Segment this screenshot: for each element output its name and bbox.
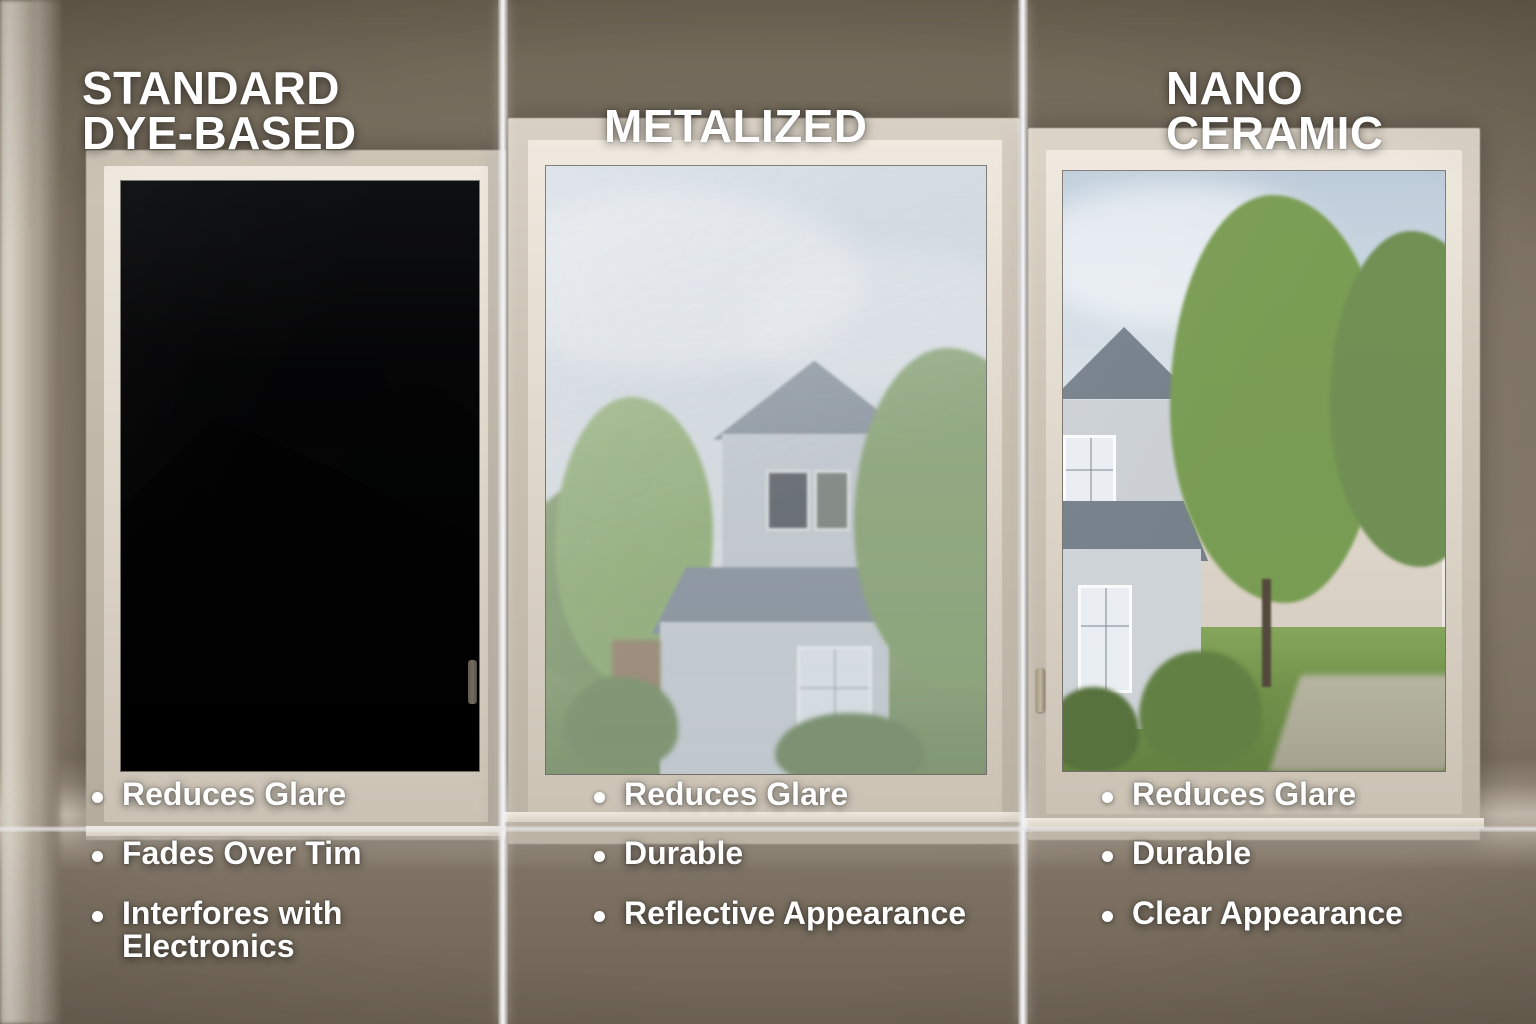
column-divider-1: [498, 0, 508, 1024]
list-item: Interfores with Electronics: [88, 897, 488, 964]
column-title-nano-ceramic: NANO CERAMIC: [1166, 66, 1383, 156]
feature-list-standard-dye-based: Reduces Glare Fades Over Tim Interfores …: [88, 778, 488, 989]
list-item: Reduces Glare: [1098, 778, 1518, 811]
list-item: Durable: [1098, 837, 1518, 870]
infographic-canvas: STANDARD DYE-BASED METALIZED NANO CERAMI…: [0, 0, 1536, 1024]
list-item: Reflective Appearance: [590, 897, 990, 930]
list-item: Reduces Glare: [88, 778, 488, 811]
column-title-metalized: METALIZED: [604, 104, 867, 149]
column-divider-2: [1018, 0, 1028, 1024]
list-item: Fades Over Tim: [88, 837, 488, 870]
list-item: Reduces Glare: [590, 778, 990, 811]
column-title-standard-dye-based: STANDARD DYE-BASED: [82, 66, 357, 156]
list-item: Clear Appearance: [1098, 897, 1518, 930]
feature-list-nano-ceramic: Reduces Glare Durable Clear Appearance: [1098, 778, 1518, 956]
list-item: Durable: [590, 837, 990, 870]
feature-list-metalized: Reduces Glare Durable Reflective Appeara…: [590, 778, 990, 956]
